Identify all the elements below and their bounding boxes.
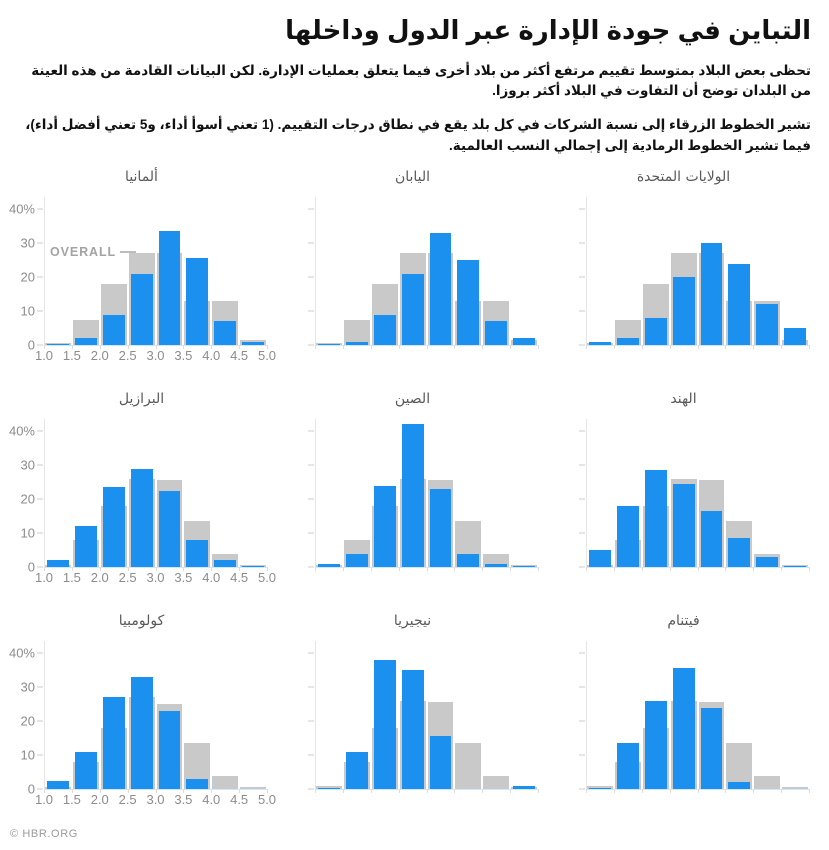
histogram-bin [427,197,455,345]
histogram-bin [753,641,781,789]
bar-country [374,660,396,789]
histogram-bin [44,641,72,789]
x-tick-mark [725,567,726,571]
x-tick-mark [538,567,539,571]
y-tick-mark [579,755,585,756]
bar-country [784,328,806,345]
histogram-bin [698,197,726,345]
y-tick-label: 40% [9,424,44,439]
x-tick-label: 5.0 [258,348,276,363]
x-tick-mark [427,567,428,571]
x-tick-mark [538,345,539,349]
y-tick-mark [579,533,585,534]
x-tick-mark [371,789,372,793]
chart-panel: اليابان [277,167,548,389]
plot-wrapper [548,415,813,611]
x-axis [315,345,538,367]
y-tick-mark [579,431,585,432]
bar-country [402,670,424,789]
bar-country [103,315,125,346]
bar-country [75,752,97,789]
x-tick-label: 2.0 [91,348,109,363]
x-tick-mark [399,567,400,571]
x-tick-label: 2.0 [91,570,109,585]
bar-country [701,708,723,790]
x-axis [586,789,809,811]
plot-wrapper [277,193,542,389]
y-tick-mark [308,345,314,346]
histogram-bin [371,641,399,789]
histogram-bin [399,641,427,789]
panel-title: الولايات المتحدة [548,169,819,185]
bar-country [673,277,695,345]
x-tick-mark [670,567,671,571]
y-tick-label: 10 [21,748,44,763]
y-tick-mark [308,653,314,654]
x-tick-label: 4.0 [202,348,220,363]
x-tick-mark [427,345,428,349]
histogram-bin [100,197,128,345]
x-tick-label: 1.5 [63,348,81,363]
y-tick-label: 20 [21,714,44,729]
x-tick-mark [510,345,511,349]
x-tick-mark [399,789,400,793]
bar-country [430,489,452,567]
bar-country [728,538,750,567]
histogram-bin [482,419,510,567]
plot-area [586,419,809,567]
y-tick-label: 10 [21,304,44,319]
x-tick-mark [753,345,754,349]
x-tick-label: 3.0 [146,348,164,363]
x-tick-mark [510,789,511,793]
y-tick-label: 20 [21,270,44,285]
bar-country [430,736,452,789]
y-tick-mark [308,499,314,500]
x-tick-mark [642,345,643,349]
histogram-bin [399,419,427,567]
x-tick-mark [482,345,483,349]
x-tick-mark [781,567,782,571]
bar-overall [455,743,481,789]
bar-country [673,484,695,567]
footer-credit: © HBR.ORG [10,828,78,840]
x-tick-mark [725,789,726,793]
bar-country [589,550,611,567]
x-tick-mark [753,789,754,793]
y-tick-mark [579,277,585,278]
y-tick-mark [308,567,314,568]
x-tick-label: 5.0 [258,792,276,807]
histogram-bin [315,641,343,789]
y-tick-mark [308,755,314,756]
histogram-bin [44,197,72,345]
x-axis [315,567,538,589]
bar-country [701,511,723,567]
x-tick-label: 2.5 [119,570,137,585]
y-tick-mark [308,243,314,244]
x-tick-mark [538,789,539,793]
x-tick-label: 4.5 [230,792,248,807]
histogram-bin [315,197,343,345]
plot-area: 010203040% [44,197,267,345]
y-tick-label: 30 [21,236,44,251]
y-tick-label: 40% [9,202,44,217]
histogram-bin [482,641,510,789]
histogram-bin [670,641,698,789]
bar-country [430,233,452,345]
bar-country [701,243,723,345]
x-axis: 1.01.52.02.53.03.54.04.55.0 [44,789,267,811]
x-tick-mark [781,345,782,349]
x-axis [315,789,538,811]
histogram-bin [315,419,343,567]
plot-wrapper: 010203040%1.01.52.02.53.03.54.04.55.0OVE… [6,193,271,389]
histogram-bin [100,419,128,567]
histogram-bin [128,641,156,789]
y-tick-label: 20 [21,492,44,507]
plot-wrapper: 010203040%1.01.52.02.53.03.54.04.55.0 [6,637,271,833]
x-tick-mark [725,345,726,349]
histogram-bin [614,197,642,345]
x-tick-mark [670,345,671,349]
plot-area: 010203040% [44,641,267,789]
histogram-bin [239,197,267,345]
bar-country [756,557,778,567]
y-tick-mark [579,465,585,466]
bar-overall [754,776,780,790]
y-tick-mark [308,687,314,688]
bar-country [214,321,236,345]
panel-title: كولومبيا [6,613,277,629]
plot-wrapper [548,637,813,833]
plot-area [315,197,538,345]
bar-country [485,321,507,345]
chart-panel: نيجيريا [277,611,548,833]
x-tick-label: 2.5 [119,792,137,807]
histogram-bin [183,419,211,567]
bars-container [44,197,267,345]
histogram-bin [427,419,455,567]
x-axis [586,567,809,589]
y-tick-mark [308,789,314,790]
x-tick-label: 4.5 [230,348,248,363]
histogram-bin [670,419,698,567]
plot-wrapper [548,193,813,389]
panel-title: فيتنام [548,613,819,629]
bar-country [75,526,97,567]
x-tick-mark [614,345,615,349]
x-tick-mark [315,345,316,349]
x-tick-label: 1.5 [63,570,81,585]
bars-container [315,641,538,789]
x-tick-mark [454,789,455,793]
y-tick-mark [579,311,585,312]
histogram-bin [642,197,670,345]
y-tick-mark [308,209,314,210]
plot-wrapper [277,415,542,611]
histogram-bin [586,419,614,567]
bar-country [186,540,208,567]
chart-panel: الولايات المتحدة [548,167,819,389]
bar-country [374,486,396,568]
x-tick-label: 2.0 [91,792,109,807]
plot-wrapper [277,637,542,833]
histogram-bin [642,419,670,567]
x-tick-label: 3.5 [174,792,192,807]
bar-country [131,274,153,345]
histogram-bin [614,641,642,789]
header: التباين في جودة الإدارة عبر الدول وداخله… [0,0,829,157]
histogram-bin [725,641,753,789]
y-tick-mark [579,653,585,654]
histogram-bin [510,419,538,567]
histogram-bin [510,197,538,345]
x-tick-mark [371,345,372,349]
plot-area [315,419,538,567]
x-tick-mark [753,567,754,571]
panel-title: الصين [277,391,548,407]
y-tick-label: 10 [21,526,44,541]
bar-country [103,697,125,789]
bars-container [44,641,267,789]
chart-panel: الهند [548,389,819,611]
histogram-bin [211,197,239,345]
histogram-bin [371,419,399,567]
plot-wrapper: 010203040%1.01.52.02.53.03.54.04.55.0 [6,415,271,611]
histogram-bin [399,197,427,345]
bars-container [315,419,538,567]
bar-overall [483,776,509,790]
histogram-bin [183,641,211,789]
bar-country [673,668,695,789]
subtitle-text: تحظى بعض البلاد بمتوسط تقييم مرتفع أكثر … [18,61,811,103]
histogram-bin [698,419,726,567]
histogram-bin [586,641,614,789]
bar-country [159,231,181,345]
y-tick-mark [308,721,314,722]
panel-title: اليابان [277,169,548,185]
histogram-bin [454,197,482,345]
histogram-bin [586,197,614,345]
histogram-bin [781,419,809,567]
y-tick-mark [308,533,314,534]
histogram-bin [156,197,184,345]
bar-country [457,260,479,345]
bar-country [159,491,181,568]
x-tick-mark [642,567,643,571]
histogram-bin [343,641,371,789]
y-tick-mark [579,567,585,568]
x-tick-label: 3.5 [174,570,192,585]
y-tick-mark [579,687,585,688]
y-tick-mark [308,277,314,278]
histogram-bin [781,197,809,345]
bars-container [586,419,809,567]
y-tick-label: 30 [21,458,44,473]
bars-container [586,641,809,789]
x-tick-mark [427,789,428,793]
y-tick-mark [308,311,314,312]
x-tick-mark [399,345,400,349]
panel-title: البرازيل [6,391,277,407]
x-tick-mark [614,567,615,571]
x-tick-label: 4.0 [202,570,220,585]
histogram-bin [753,419,781,567]
x-tick-label: 1.0 [35,792,53,807]
histogram-bin [454,641,482,789]
bar-country [186,779,208,789]
histogram-bin [156,641,184,789]
x-tick-mark [315,789,316,793]
histogram-bin [343,419,371,567]
x-tick-mark [670,789,671,793]
x-tick-mark [809,345,810,349]
y-tick-mark [308,431,314,432]
histogram-bin [72,197,100,345]
y-tick-mark [579,789,585,790]
plot-area [586,641,809,789]
panel-title: نيجيريا [277,613,548,629]
histogram-bin [128,197,156,345]
x-tick-label: 1.5 [63,792,81,807]
x-tick-mark [343,345,344,349]
histogram-bin [156,419,184,567]
histogram-bin [239,419,267,567]
bar-country [617,506,639,567]
x-tick-mark [586,567,587,571]
x-tick-mark [781,789,782,793]
histogram-bin [183,197,211,345]
histogram-bin [670,197,698,345]
x-tick-mark [510,567,511,571]
chart-panel: كولومبيا010203040%1.01.52.02.53.03.54.04… [6,611,277,833]
histogram-bin [128,419,156,567]
bar-country [131,469,153,568]
small-multiples-grid: ألمانيا010203040%1.01.52.02.53.03.54.04.… [0,163,829,833]
y-tick-label: 30 [21,680,44,695]
histogram-bin [482,197,510,345]
y-tick-mark [579,721,585,722]
histogram-bin [753,197,781,345]
y-tick-mark [579,499,585,500]
x-tick-label: 4.5 [230,570,248,585]
bar-country [617,743,639,789]
histogram-bin [211,641,239,789]
x-tick-label: 1.0 [35,348,53,363]
x-tick-mark [809,567,810,571]
x-tick-mark [482,567,483,571]
bar-country [756,304,778,345]
x-tick-mark [586,345,587,349]
plot-area: 010203040% [44,419,267,567]
chart-panel: الصين [277,389,548,611]
x-tick-label: 3.0 [146,792,164,807]
bar-country [402,424,424,567]
page-title: التباين في جودة الإدارة عبر الدول وداخله… [18,14,811,47]
x-axis [586,345,809,367]
bar-country [728,264,750,346]
bar-country [346,554,368,568]
histogram-bin [239,641,267,789]
bars-container [586,197,809,345]
chart-panel: فيتنام [548,611,819,833]
x-tick-mark [642,789,643,793]
y-tick-mark [579,243,585,244]
bar-country [103,487,125,567]
x-tick-mark [482,789,483,793]
bar-overall [212,776,238,790]
chart-panel: ألمانيا010203040%1.01.52.02.53.03.54.04.… [6,167,277,389]
histogram-bin [72,419,100,567]
histogram-bin [642,641,670,789]
histogram-bin [454,419,482,567]
x-tick-label: 2.5 [119,348,137,363]
x-tick-mark [586,789,587,793]
histogram-bin [698,641,726,789]
x-tick-mark [343,789,344,793]
histogram-bin [211,419,239,567]
bars-container [315,197,538,345]
bar-country [159,711,181,789]
panel-title: الهند [548,391,819,407]
plot-area [315,641,538,789]
bar-country [645,318,667,345]
x-tick-mark [698,345,699,349]
x-tick-label: 1.0 [35,570,53,585]
y-tick-label: 40% [9,646,44,661]
bar-country [186,258,208,345]
bar-country [346,752,368,789]
x-axis: 1.01.52.02.53.03.54.04.55.0 [44,567,267,589]
x-tick-mark [809,789,810,793]
histogram-bin [725,197,753,345]
x-tick-mark [454,567,455,571]
histogram-bin [427,641,455,789]
bar-country [645,470,667,567]
chart-panel: البرازيل010203040%1.01.52.02.53.03.54.04… [6,389,277,611]
note-text: تشير الخطوط الزرقاء إلى نسبة الشركات في … [18,115,811,157]
x-tick-mark [371,567,372,571]
histogram-bin [614,419,642,567]
x-tick-mark [343,567,344,571]
x-tick-mark [698,789,699,793]
panel-title: ألمانيا [6,169,277,185]
y-tick-mark [308,465,314,466]
histogram-bin [44,419,72,567]
bar-country [374,315,396,346]
x-tick-mark [315,567,316,571]
plot-area [586,197,809,345]
infographic-page: التباين في جودة الإدارة عبر الدول وداخله… [0,0,829,850]
x-tick-label: 3.0 [146,570,164,585]
histogram-bin [100,641,128,789]
x-tick-label: 3.5 [174,348,192,363]
y-tick-mark [579,209,585,210]
bar-country [131,677,153,789]
x-tick-mark [614,789,615,793]
x-tick-mark [698,567,699,571]
histogram-bin [781,641,809,789]
histogram-bin [725,419,753,567]
bar-country [402,274,424,345]
histogram-bin [510,641,538,789]
histogram-bin [371,197,399,345]
bars-container [44,419,267,567]
bar-country [645,701,667,789]
x-tick-label: 5.0 [258,570,276,585]
x-tick-mark [454,345,455,349]
